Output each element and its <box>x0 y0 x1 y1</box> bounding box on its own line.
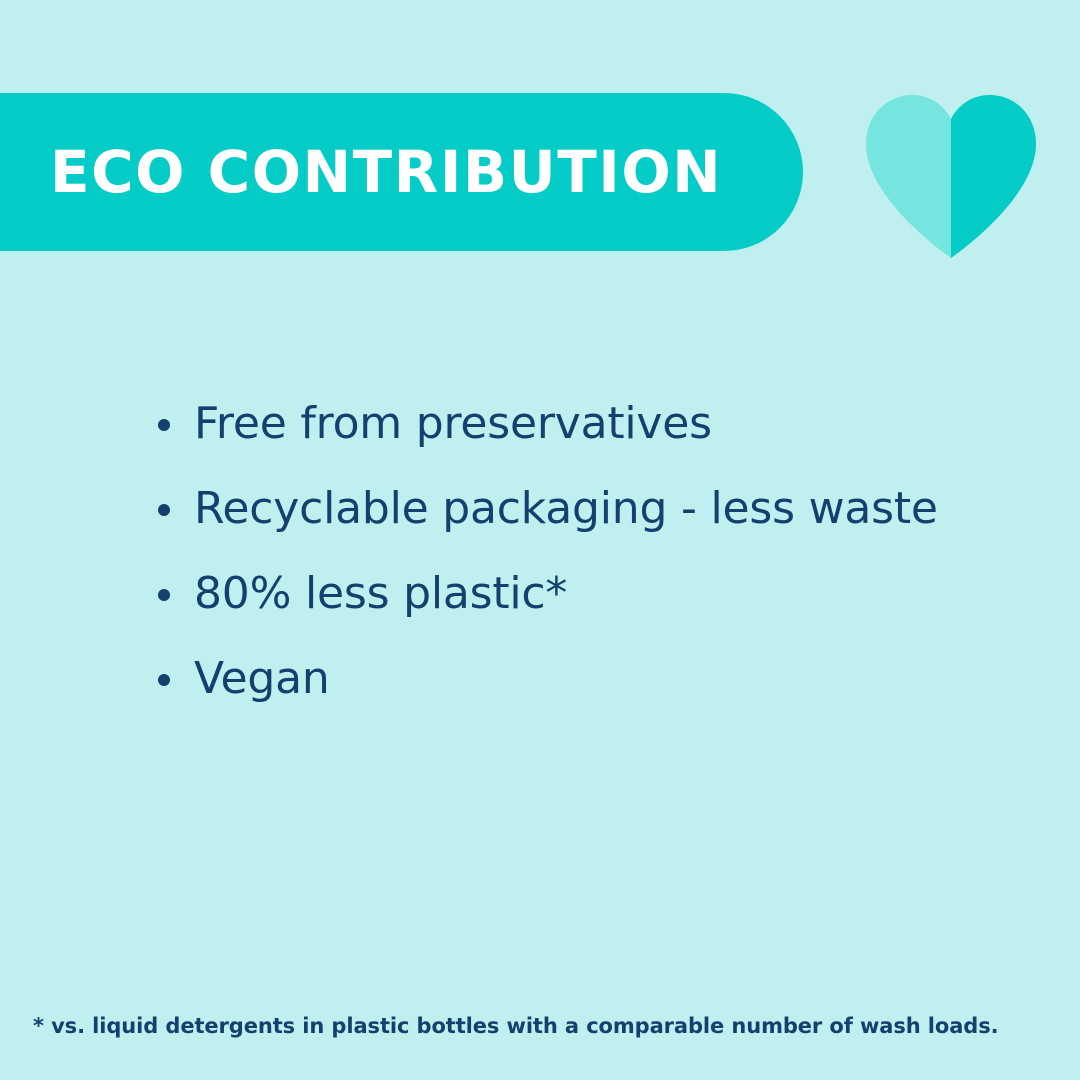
bullet-dot-icon <box>158 674 170 686</box>
list-item-label: Recyclable packaging - less waste <box>194 483 938 534</box>
header-banner: ECO CONTRIBUTION <box>0 93 803 251</box>
eco-contribution-card: ECO CONTRIBUTION Free from preservatives… <box>0 0 1080 1080</box>
list-item-label: Free from preservatives <box>194 398 712 449</box>
benefits-list: Free from preservatives Recyclable packa… <box>152 388 942 714</box>
list-item: Recyclable packaging - less waste <box>152 473 942 544</box>
list-item: Vegan <box>152 643 942 714</box>
list-item-label: 80% less plastic* <box>194 568 567 619</box>
bullet-dot-icon <box>158 589 170 601</box>
page-title: ECO CONTRIBUTION <box>50 143 722 201</box>
bullet-dot-icon <box>158 419 170 431</box>
list-item: Free from preservatives <box>152 388 942 459</box>
footnote-text: * vs. liquid detergents in plastic bottl… <box>33 1011 1053 1041</box>
two-tone-heart-icon <box>860 92 1042 258</box>
list-item-label: Vegan <box>194 653 330 704</box>
bullet-dot-icon <box>158 504 170 516</box>
list-item: 80% less plastic* <box>152 558 942 629</box>
